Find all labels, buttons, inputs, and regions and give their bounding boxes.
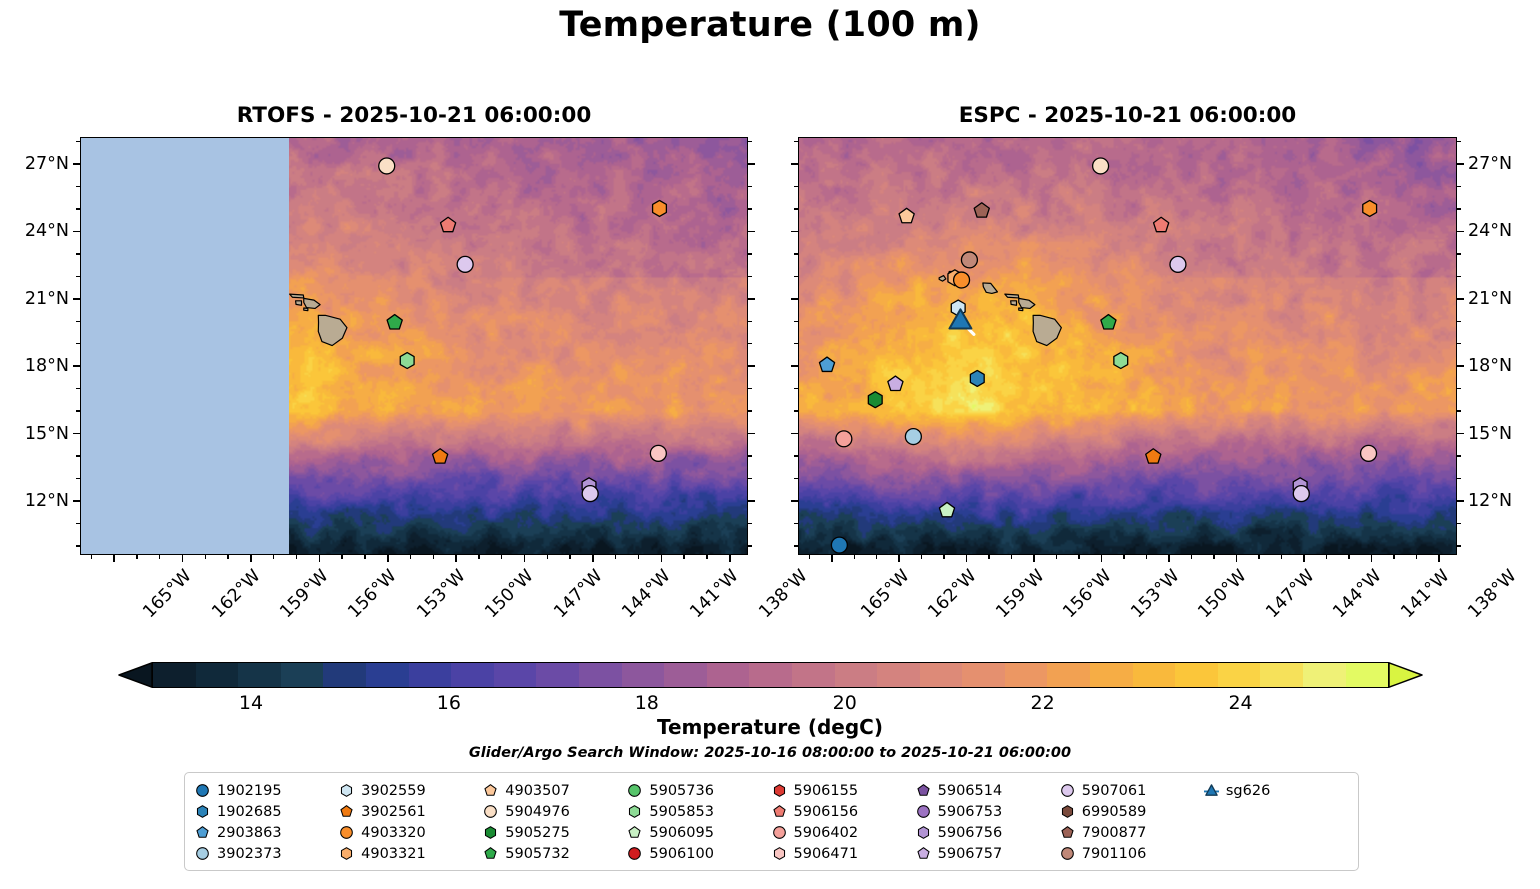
ytick-label-right: 18°N <box>1468 356 1512 376</box>
ytick-minor <box>1457 478 1461 479</box>
marker-5904976[interactable] <box>379 158 395 174</box>
colorbar-swatch <box>1303 663 1346 687</box>
legend-marker-5906095 <box>627 825 642 840</box>
legend-marker-6990589 <box>1060 804 1075 819</box>
xtick-minor <box>569 555 570 559</box>
colorbar-tick-label: 24 <box>1228 692 1252 714</box>
ytick-minor <box>76 253 80 254</box>
xtick-major <box>1236 555 1238 562</box>
island-hawaii <box>1033 315 1061 345</box>
ytick-major <box>1457 163 1464 165</box>
legend-marker-5906471 <box>772 846 787 861</box>
legend-marker-5906100 <box>627 846 642 861</box>
ytick-major <box>1457 231 1464 233</box>
xtick-minor <box>364 555 365 559</box>
xtick-label: 165°W <box>140 566 196 622</box>
marker-7901106[interactable] <box>961 252 977 268</box>
xtick-label: 144°W <box>618 566 674 622</box>
colorbar-swatch <box>409 663 452 687</box>
legend-marker-5905736 <box>627 783 642 798</box>
marker-5905853[interactable] <box>400 353 414 369</box>
legend-item-5906095[interactable]: 5906095 <box>627 822 771 843</box>
legend-item-label: sg626 <box>1226 783 1270 799</box>
xtick-minor <box>683 555 684 559</box>
xtick-label: 144°W <box>1329 566 1385 622</box>
colorbar-swatch <box>835 663 878 687</box>
ytick-label-right: 12°N <box>1468 491 1512 511</box>
ytick-minor <box>748 186 752 187</box>
colorbar-swatch <box>1346 663 1389 687</box>
colorbar-swatch <box>536 663 579 687</box>
legend-item-label: 5905853 <box>649 804 714 820</box>
marker-5905853[interactable] <box>1114 353 1128 369</box>
xtick-minor <box>296 555 297 559</box>
xtick-major <box>1168 555 1170 562</box>
legend-marker-3902559 <box>339 783 354 798</box>
legend-item-5907061[interactable]: 5907061 <box>1060 780 1204 801</box>
xtick-minor <box>1123 555 1124 559</box>
ytick-major <box>73 231 80 233</box>
ytick-major <box>791 433 798 435</box>
xtick-label: 165°W <box>857 566 913 622</box>
legend-item-label: 3902561 <box>361 804 426 820</box>
ytick-minor <box>1457 523 1461 524</box>
legend-item-label: 5906471 <box>794 846 859 862</box>
legend-item-label: 1902195 <box>217 783 282 799</box>
legend-item-5906471[interactable]: 5906471 <box>772 843 916 864</box>
colorbar-swatch <box>877 663 920 687</box>
xtick-minor <box>136 555 137 559</box>
ytick-minor <box>1457 321 1461 322</box>
colorbar-gradient <box>152 662 1389 688</box>
xtick-minor <box>501 555 502 559</box>
ytick-major <box>748 433 755 435</box>
ytick-label-right: 15°N <box>1468 424 1512 444</box>
ytick-minor <box>794 523 798 524</box>
xtick-minor <box>478 555 479 559</box>
ytick-label-left: 18°N <box>0 356 69 376</box>
legend-item-4903321[interactable]: 4903321 <box>339 843 483 864</box>
xtick-major <box>1371 555 1373 562</box>
colorbar-swatch <box>1047 663 1090 687</box>
ytick-minor <box>794 321 798 322</box>
xtick-minor <box>1056 555 1057 559</box>
legend-marker-4903321 <box>339 846 354 861</box>
overlay-espc <box>799 138 1456 554</box>
colorbar-tick-label: 20 <box>833 692 857 714</box>
xtick-minor <box>273 555 274 559</box>
ytick-major <box>1457 298 1464 300</box>
legend-marker-5905275 <box>483 825 498 840</box>
xtick-minor <box>205 555 206 559</box>
legend-item-label: 2903863 <box>217 825 282 841</box>
legend-marker-5906155 <box>772 783 787 798</box>
ytick-major <box>73 433 80 435</box>
legend-item-label: 4903321 <box>361 846 426 862</box>
xtick-minor <box>1258 555 1259 559</box>
ytick-minor <box>794 478 798 479</box>
ytick-minor <box>794 276 798 277</box>
xtick-label: 159°W <box>276 566 332 622</box>
colorbar-extend-high <box>1389 662 1423 688</box>
island-hawaii <box>318 315 347 345</box>
legend-item-label: 5905732 <box>505 846 570 862</box>
ytick-major <box>748 365 755 367</box>
search-window-text: Glider/Argo Search Window: 2025-10-16 08… <box>0 745 1540 761</box>
panel-title-rtofs: RTOFS - 2025-10-21 06:00:00 <box>80 103 748 128</box>
xtick-label: 153°W <box>1127 566 1183 622</box>
ytick-minor <box>76 523 80 524</box>
ytick-label-left: 24°N <box>0 221 69 241</box>
xtick-minor <box>638 555 639 559</box>
legend-item-5906156[interactable]: 5906156 <box>772 801 916 822</box>
ytick-major <box>1457 365 1464 367</box>
ytick-minor <box>1457 455 1461 456</box>
legend-marker-5906402 <box>772 825 787 840</box>
ytick-major <box>748 231 755 233</box>
ytick-minor <box>794 208 798 209</box>
marker-1902685[interactable] <box>970 370 984 386</box>
marker-5906471[interactable] <box>650 445 666 461</box>
colorbar-tick-label: 22 <box>1031 692 1055 714</box>
colorbar-swatch <box>1175 663 1218 687</box>
legend-item-sg626[interactable]: sg626 <box>1204 780 1348 801</box>
ytick-label-left: 15°N <box>0 424 69 444</box>
ytick-minor <box>1457 253 1461 254</box>
legend-item-label: 4903320 <box>361 825 426 841</box>
xtick-major <box>729 555 731 562</box>
island-molokai <box>290 294 304 298</box>
panel-title-espc: ESPC - 2025-10-21 06:00:00 <box>798 103 1457 128</box>
ytick-minor <box>794 455 798 456</box>
legend-item-label: 5905736 <box>649 783 714 799</box>
figure-title: Temperature (100 m) <box>0 5 1540 45</box>
legend-item-label: 7900877 <box>1082 825 1147 841</box>
legend-marker-5905853 <box>627 804 642 819</box>
xtick-major <box>898 555 900 562</box>
ytick-minor <box>1457 186 1461 187</box>
ytick-minor <box>76 343 80 344</box>
legend-item-1902685[interactable]: 1902685 <box>195 801 339 822</box>
ytick-major <box>73 365 80 367</box>
ytick-minor <box>1457 208 1461 209</box>
ytick-major <box>791 365 798 367</box>
legend-marker-sg626 <box>1204 783 1219 798</box>
xtick-label: 162°W <box>208 566 264 622</box>
legend-item-3902373[interactable]: 3902373 <box>195 843 339 864</box>
colorbar-swatch <box>1260 663 1303 687</box>
marker-4903320[interactable] <box>1363 200 1377 216</box>
legend-empty-slot <box>1204 843 1348 864</box>
xtick-major <box>319 555 321 562</box>
legend-item-4903320[interactable]: 4903320 <box>339 822 483 843</box>
xtick-minor <box>433 555 434 559</box>
xtick-label: 159°W <box>992 566 1048 622</box>
marker-1902195[interactable] <box>831 537 847 553</box>
legend-empty-slot <box>1204 801 1348 822</box>
marker-4903320b[interactable] <box>954 272 970 288</box>
legend-item-label: 5906757 <box>938 846 1003 862</box>
marker-3902561[interactable] <box>433 449 448 463</box>
colorbar-swatch <box>622 663 665 687</box>
xtick-minor <box>943 555 944 559</box>
legend-item-3902559[interactable]: 3902559 <box>339 780 483 801</box>
xtick-major <box>524 555 526 562</box>
xtick-label: 162°W <box>925 566 981 622</box>
xtick-major <box>831 555 833 562</box>
ytick-minor <box>748 253 752 254</box>
ytick-major <box>791 231 798 233</box>
ytick-minor <box>748 321 752 322</box>
ytick-minor <box>748 455 752 456</box>
xtick-minor <box>988 555 989 559</box>
ytick-minor <box>794 410 798 411</box>
legend-item-label: 5905275 <box>505 825 570 841</box>
marker-3902373[interactable] <box>905 429 921 445</box>
marker-5905732[interactable] <box>1101 315 1116 329</box>
legend-marker-7900877 <box>1060 825 1075 840</box>
ytick-minor <box>748 141 752 142</box>
colorbar-swatch <box>1005 663 1048 687</box>
xtick-minor <box>547 555 548 559</box>
ytick-major <box>73 298 80 300</box>
xtick-minor <box>1146 555 1147 559</box>
marker-5906757[interactable] <box>888 376 903 390</box>
marker-5907061[interactable] <box>457 256 473 272</box>
legend-item-label: 3902559 <box>361 783 426 799</box>
colorbar-swatch <box>153 663 196 687</box>
colorbar-swatch <box>664 663 707 687</box>
legend-empty-slot <box>1204 822 1348 843</box>
colorbar-label: Temperature (degC) <box>0 715 1540 739</box>
colorbar-swatch <box>792 663 835 687</box>
xtick-minor <box>876 555 877 559</box>
ytick-minor <box>1457 276 1461 277</box>
marker-4903320[interactable] <box>653 200 667 216</box>
legend-marker-5906156 <box>772 804 787 819</box>
legend-item-5906514[interactable]: 5906514 <box>916 780 1060 801</box>
legend-item-label: 5906756 <box>938 825 1003 841</box>
xtick-minor <box>809 555 810 559</box>
xtick-minor <box>1326 555 1327 559</box>
ytick-minor <box>76 545 80 546</box>
legend-item-5904976[interactable]: 5904976 <box>483 801 627 822</box>
xtick-major <box>1303 555 1305 562</box>
marker-4903507[interactable] <box>899 208 914 222</box>
legend-item-label: 3902373 <box>217 846 282 862</box>
xtick-minor <box>1416 555 1417 559</box>
colorbar-swatch <box>451 663 494 687</box>
xtick-label: 147°W <box>550 566 606 622</box>
colorbar-swatch <box>579 663 622 687</box>
legend-marker-5906756 <box>916 825 931 840</box>
island-oahu <box>983 283 998 294</box>
marker-5906095[interactable] <box>939 502 954 516</box>
legend-item-5906753[interactable]: 5906753 <box>916 801 1060 822</box>
legend-item-label: 5906155 <box>794 783 859 799</box>
marker-5907061b[interactable] <box>582 486 598 502</box>
xtick-minor <box>615 555 616 559</box>
ytick-minor <box>748 208 752 209</box>
ytick-major <box>791 500 798 502</box>
legend-item-4903507[interactable]: 4903507 <box>483 780 627 801</box>
ytick-minor <box>748 410 752 411</box>
marker-5905275[interactable] <box>868 392 882 408</box>
ytick-minor <box>748 343 752 344</box>
ytick-minor <box>76 388 80 389</box>
colorbar-tick-label: 14 <box>239 692 263 714</box>
legend-item-label: 4903507 <box>505 783 570 799</box>
xtick-minor <box>1191 555 1192 559</box>
xtick-minor <box>227 555 228 559</box>
ytick-major <box>748 298 755 300</box>
legend-item-label: 5906753 <box>938 804 1003 820</box>
legend-item-1902195[interactable]: 1902195 <box>195 780 339 801</box>
marker-5906156[interactable] <box>1154 217 1169 231</box>
legend-marker-1902685 <box>195 804 210 819</box>
legend-marker-4903507 <box>483 783 498 798</box>
ytick-minor <box>76 208 80 209</box>
xtick-minor <box>706 555 707 559</box>
legend-item-5906402[interactable]: 5906402 <box>772 822 916 843</box>
xtick-minor <box>1393 555 1394 559</box>
legend-marker-5904976 <box>483 804 498 819</box>
legend-item-label: 5906095 <box>649 825 714 841</box>
legend-marker-5906757 <box>916 846 931 861</box>
xtick-minor <box>854 555 855 559</box>
legend-marker-4903320 <box>339 825 354 840</box>
legend-marker-5906514 <box>916 783 931 798</box>
map-panel-espc[interactable] <box>798 137 1457 555</box>
ytick-major <box>1457 433 1464 435</box>
legend-item-label: 5904976 <box>505 804 570 820</box>
colorbar-swatch <box>920 663 963 687</box>
island-lanai <box>296 301 302 305</box>
marker-5907061[interactable] <box>1170 256 1186 272</box>
xtick-minor <box>1213 555 1214 559</box>
ytick-minor <box>1457 545 1461 546</box>
ytick-minor <box>794 141 798 142</box>
nodata-mask-rtofs <box>81 138 289 554</box>
ytick-minor <box>1457 410 1461 411</box>
legend-marker-5905732 <box>483 846 498 861</box>
legend-item-5905853[interactable]: 5905853 <box>627 801 771 822</box>
ytick-major <box>1457 500 1464 502</box>
legend-item-3902561[interactable]: 3902561 <box>339 801 483 822</box>
xtick-major <box>387 555 389 562</box>
legend-marker-5907061 <box>1060 783 1075 798</box>
ytick-minor <box>76 186 80 187</box>
ytick-minor <box>748 545 752 546</box>
colorbar-swatch <box>749 663 792 687</box>
colorbar-swatch <box>281 663 324 687</box>
marker-5904976[interactable] <box>1093 158 1109 174</box>
legend-item-6990589[interactable]: 6990589 <box>1060 801 1204 822</box>
xtick-minor <box>1348 555 1349 559</box>
island-lanai <box>1011 301 1017 305</box>
ytick-label-right: 24°N <box>1468 221 1512 241</box>
ytick-minor <box>748 276 752 277</box>
marker-5906402[interactable] <box>836 431 852 447</box>
legend-marker-1902195 <box>195 783 210 798</box>
xtick-major <box>592 555 594 562</box>
xtick-major <box>182 555 184 562</box>
xtick-label: 150°W <box>482 566 538 622</box>
xtick-label: 141°W <box>1397 566 1453 622</box>
xtick-major <box>1438 555 1440 562</box>
island-kahoolawe <box>1019 308 1023 311</box>
ytick-minor <box>748 388 752 389</box>
island-niihau <box>939 276 946 282</box>
island-molokai <box>1005 294 1019 298</box>
colorbar-swatch <box>707 663 750 687</box>
legend-item-label: 5906402 <box>794 825 859 841</box>
ytick-minor <box>794 343 798 344</box>
xtick-minor <box>1011 555 1012 559</box>
xtick-label: 141°W <box>687 566 743 622</box>
legend-item-5906757[interactable]: 5906757 <box>916 843 1060 864</box>
ytick-minor <box>1457 343 1461 344</box>
map-panel-rtofs[interactable] <box>80 137 748 555</box>
xtick-major <box>113 555 115 562</box>
colorbar-swatch <box>196 663 239 687</box>
legend-item-5906155[interactable]: 5906155 <box>772 780 916 801</box>
legend-item-5906100[interactable]: 5906100 <box>627 843 771 864</box>
xtick-major <box>1101 555 1103 562</box>
legend-item-5905732[interactable]: 5905732 <box>483 843 627 864</box>
xtick-minor <box>1281 555 1282 559</box>
ytick-minor <box>794 253 798 254</box>
ytick-label-left: 27°N <box>0 154 69 174</box>
marker-5905732[interactable] <box>387 315 402 329</box>
legend-item-label: 5906100 <box>649 846 714 862</box>
xtick-label: 153°W <box>413 566 469 622</box>
ytick-label-left: 21°N <box>0 289 69 309</box>
legend-item-7901106[interactable]: 7901106 <box>1060 843 1204 864</box>
colorbar-tick-label: 18 <box>635 692 659 714</box>
ytick-minor <box>1457 388 1461 389</box>
ytick-minor <box>748 478 752 479</box>
xtick-minor <box>921 555 922 559</box>
ytick-minor <box>76 478 80 479</box>
ytick-minor <box>794 388 798 389</box>
legend-item-5906756[interactable]: 5906756 <box>916 822 1060 843</box>
legend-marker-3902561 <box>339 804 354 819</box>
marker-5906471[interactable] <box>1361 445 1377 461</box>
marker-2903863[interactable] <box>819 357 834 371</box>
marker-7900877[interactable] <box>974 203 989 217</box>
xtick-minor <box>410 555 411 559</box>
ytick-minor <box>794 545 798 546</box>
xtick-label: 156°W <box>1060 566 1116 622</box>
legend-item-5905275[interactable]: 5905275 <box>483 822 627 843</box>
colorbar-swatch <box>1218 663 1261 687</box>
ytick-minor <box>76 276 80 277</box>
island-maui <box>1019 298 1035 308</box>
legend-item-5905736[interactable]: 5905736 <box>627 780 771 801</box>
xtick-label: 156°W <box>345 566 401 622</box>
ytick-major <box>748 163 755 165</box>
legend-item-2903863[interactable]: 2903863 <box>195 822 339 843</box>
legend-item-label: 6990589 <box>1082 804 1147 820</box>
xtick-minor <box>1078 555 1079 559</box>
marker-3902561[interactable] <box>1146 449 1161 463</box>
legend-item-7900877[interactable]: 7900877 <box>1060 822 1204 843</box>
xtick-label: 150°W <box>1195 566 1251 622</box>
marker-5906156[interactable] <box>441 217 456 231</box>
colorbar-tick-label: 16 <box>437 692 461 714</box>
marker-5907061b[interactable] <box>1293 486 1309 502</box>
